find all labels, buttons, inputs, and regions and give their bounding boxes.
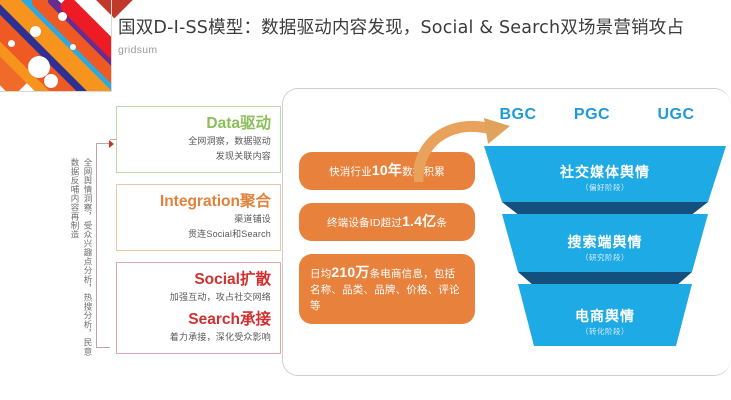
funnel-segment-label: 电商舆情: [484, 306, 726, 326]
slide-header: 国双D-I-SS模型：数据驱动内容发现，Social & Search双场景营销…: [118, 14, 725, 56]
funnel-source-pgc: PGC: [562, 106, 622, 124]
page-title: 国双D-I-SS模型：数据驱动内容发现，Social & Search双场景营销…: [118, 14, 725, 39]
pillar-title-social: Social扩散: [126, 270, 271, 289]
pillar-desc-search: 着力承接，深化受众影响: [126, 331, 271, 344]
pillar-desc-line2: 发现关联内容: [126, 150, 271, 163]
stat-pill-device-ids[interactable]: 终端设备ID超过1.4亿条: [299, 203, 475, 241]
funnel-segment-social-media[interactable]: 社交媒体舆情 （偏好阶段）: [484, 146, 726, 216]
left-vertical-caption: 全网舆情洞察，受众兴趣点分析，热搜分析，民意数据反哺内容再制造: [52, 158, 94, 358]
slide-root: 国双D-I-SS模型：数据驱动内容发现，Social & Search双场景营销…: [0, 0, 731, 400]
funnel-segment-stage: （研究阶段）: [484, 252, 726, 263]
pillar-desc-line1: 渠道铺设: [126, 213, 271, 226]
stat-number: 210万: [331, 264, 369, 280]
funnel-source-bgc: BGC: [488, 106, 548, 124]
insight-funnel: BGC PGC UGC 社交媒体舆情 （偏好阶段） 搜索端舆情 （研究阶段）: [484, 106, 726, 356]
pillar-desc-social: 加强互动，攻占社交网络: [126, 291, 271, 304]
stat-prefix: 快消行业: [329, 166, 372, 178]
stat-suffix: 条: [436, 217, 447, 229]
bracket-connector: [96, 143, 110, 348]
stat-pill-ecommerce-records[interactable]: 日均210万条电商信息，包括名称、品类、品牌、价格、评论等: [299, 254, 475, 324]
brand-name: gridsum: [118, 44, 725, 56]
funnel-segment-stage: （偏好阶段）: [484, 182, 726, 193]
bracket-arrow-icon: [109, 140, 114, 148]
funnel-segment-search[interactable]: 搜索端舆情 （研究阶段）: [484, 214, 726, 286]
pillar-box-list: Data驱动 全网洞察，数据驱动 发现关联内容 Integration聚合 渠道…: [116, 106, 281, 365]
pillar-title: Integration聚合: [126, 192, 271, 211]
funnel-segment-stage: （转化阶段）: [484, 326, 726, 337]
funnel-segment-ecommerce[interactable]: 电商舆情 （转化阶段）: [484, 284, 726, 354]
stat-number: 10年: [372, 162, 402, 178]
pillar-title: Data驱动: [126, 114, 271, 133]
funnel-segment-label: 搜索端舆情: [484, 232, 726, 252]
funnel-source-ugc: UGC: [646, 106, 706, 124]
funnel-segment-label: 社交媒体舆情: [484, 162, 726, 182]
pillar-desc-line1: 全网洞察，数据驱动: [126, 135, 271, 148]
pillar-title-search: Search承接: [126, 310, 271, 329]
stat-number: 1.4亿: [402, 213, 436, 229]
pillar-box-social-search[interactable]: Social扩散 加强互动，攻占社交网络 Search承接 着力承接，深化受众影…: [116, 262, 281, 354]
pillar-box-integration[interactable]: Integration聚合 渠道铺设 贯连Social和Search: [116, 184, 281, 251]
pillar-box-data[interactable]: Data驱动 全网洞察，数据驱动 发现关联内容: [116, 106, 281, 173]
stat-prefix: 终端设备ID超过: [327, 217, 402, 229]
pillar-desc-line2: 贯连Social和Search: [126, 228, 271, 241]
stat-prefix: 日均: [310, 268, 331, 280]
brand-decoration-graphic: [0, 0, 112, 92]
